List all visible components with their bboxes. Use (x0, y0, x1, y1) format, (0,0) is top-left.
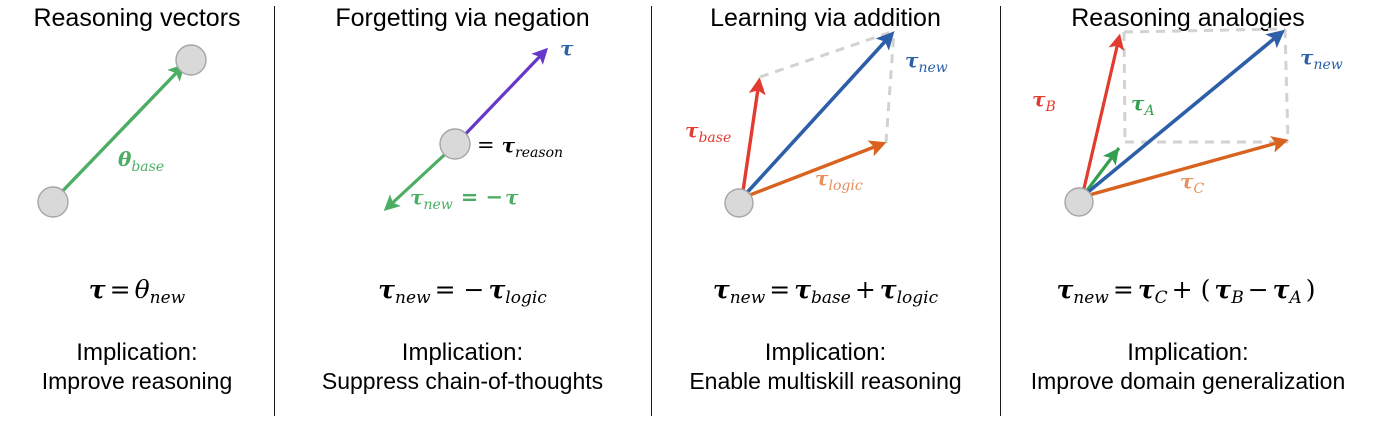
implication-block: Implication: Enable multiskill reasoning (651, 338, 1000, 396)
vector-tau (455, 51, 545, 145)
formula-tau-c-sub: C (1155, 288, 1168, 308)
implication-block: Implication: Improve domain generalizati… (1000, 338, 1376, 396)
vector-label-tau-new: τnew (1300, 45, 1343, 73)
implication-head: Implication: (651, 338, 1000, 367)
panel-title: Learning via addition (651, 3, 1000, 33)
formula-eq: = (106, 275, 135, 304)
vector-label-theta-base: θbase (118, 147, 164, 175)
implication-body: Suppress chain-of-thoughts (274, 367, 651, 396)
formula-minus: − (460, 275, 489, 304)
formula-tau-logic-sub: logic (897, 288, 939, 308)
vector-label-tau-a: τA (1131, 91, 1155, 119)
implication-head: Implication: (1000, 338, 1376, 367)
node-origin (725, 189, 753, 217)
formula-plus: + (1168, 275, 1197, 304)
formula-tau-a-sub: A (1289, 288, 1301, 308)
implication-body: Improve reasoning (0, 367, 274, 396)
panel-title: Forgetting via negation (274, 3, 651, 33)
vector-label-tau: τ (560, 36, 574, 60)
formula-minus: − (1244, 275, 1273, 304)
vector-label-tau-new: τnew (905, 48, 948, 76)
vector-label-tau-new: τnew=−τ (410, 184, 519, 213)
vector-theta-base (53, 67, 182, 201)
implication-block: Implication: Suppress chain-of-thoughts (274, 338, 651, 396)
formula-tau-base: τ (794, 275, 811, 304)
formula-tau-a: τ (1273, 275, 1290, 304)
formula-plus: + (851, 275, 880, 304)
implication-head: Implication: (274, 338, 651, 367)
panel-title: Reasoning analogies (1000, 3, 1376, 33)
formula-paren-close: ) (1302, 275, 1320, 304)
node-origin (1065, 188, 1093, 216)
panel-formula: τnew=τC+(τB−τA) (1000, 275, 1376, 313)
formula-tau-base-sub: base (811, 288, 851, 308)
diagram-forgetting-via-negation: τ =τreason τnew=−τ (274, 40, 651, 270)
diagram-reasoning-analogies: τB τA τnew τC (1000, 40, 1376, 270)
formula-tau-new-sub: new (395, 288, 431, 308)
formula-theta-sub: new (150, 288, 186, 308)
panel-formula: τnew=−τlogic (274, 275, 651, 313)
vector-label-tau-c: τC (1180, 169, 1204, 197)
vector-label-tau-b: τB (1032, 87, 1056, 115)
panel-reasoning-vectors: Reasoning vectors θbase τ=θnew Implicati… (0, 0, 274, 422)
formula-tau-c: τ (1138, 275, 1155, 304)
panel-reasoning-analogies: Reasoning analogies (1000, 0, 1376, 422)
formula-tau-new-sub: new (1073, 288, 1109, 308)
formula-tau-new: τ (1056, 275, 1073, 304)
panel-learning-via-addition: Learning via addition τbase (651, 0, 1000, 422)
panel-formula: τnew=τbase+τlogic (651, 275, 1000, 313)
diagram-learning-via-addition: τbase τnew τlogic (651, 40, 1000, 270)
implication-block: Implication: Improve reasoning (0, 338, 274, 396)
figure-root: Reasoning vectors θbase τ=θnew Implicati… (0, 0, 1376, 422)
node-equation: =τreason (477, 133, 563, 161)
implication-body: Enable multiskill reasoning (651, 367, 1000, 396)
panel-formula: τ=θnew (0, 275, 274, 313)
formula-tau-new: τ (378, 275, 395, 304)
formula-tau-new-sub: new (730, 288, 766, 308)
formula-tau-logic: τ (488, 275, 505, 304)
formula-tau-b: τ (1214, 275, 1231, 304)
formula-eq: = (431, 275, 460, 304)
vector-label-tau-logic: τlogic (815, 166, 863, 194)
node-origin (440, 129, 470, 159)
node-start (38, 187, 68, 217)
formula-eq: = (765, 275, 794, 304)
formula-tau-logic: τ (880, 275, 897, 304)
diagram-reasoning-vectors: θbase (0, 40, 274, 270)
dashed-rect-left (1124, 32, 1125, 142)
formula-tau: τ (89, 275, 106, 304)
panel-forgetting-via-negation: Forgetting via negation τ =τreason τnew (274, 0, 651, 422)
dashed-edge-right (886, 31, 894, 143)
vector-label-tau-base: τbase (685, 118, 731, 146)
node-end (176, 45, 206, 75)
formula-tau-new: τ (713, 275, 730, 304)
formula-tau-b-sub: B (1231, 288, 1244, 308)
formula-paren-open: ( (1197, 275, 1215, 304)
implication-head: Implication: (0, 338, 274, 367)
panel-title: Reasoning vectors (0, 3, 274, 33)
formula-eq: = (1109, 275, 1138, 304)
formula-tau-logic-sub: logic (505, 288, 547, 308)
implication-body: Improve domain generalization (1000, 367, 1376, 396)
formula-theta: θ (135, 275, 150, 304)
dashed-rect-right (1285, 29, 1288, 142)
